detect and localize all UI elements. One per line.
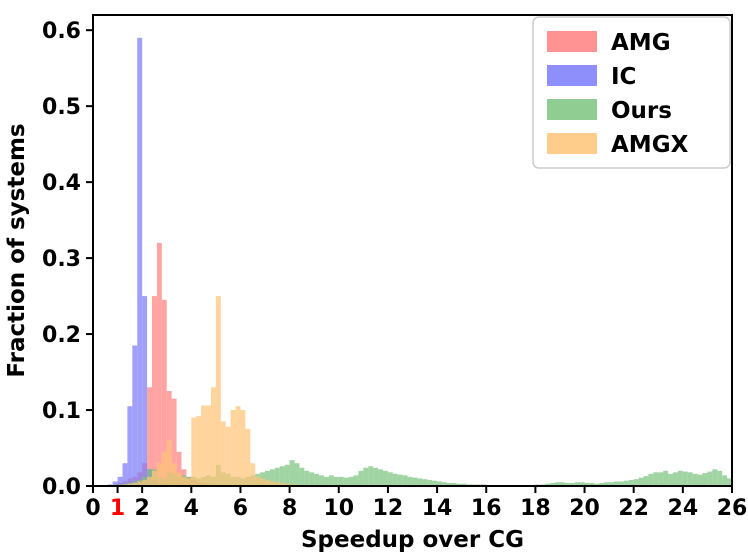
histogram-bar [290,460,295,486]
histogram-bar [255,477,260,486]
legend-box[interactable]: AMGICOursAMGX [533,17,730,168]
histogram-bar [422,479,427,486]
histogram-bar [349,477,354,486]
histogram-bar [240,410,245,486]
histogram-bar [334,477,339,486]
histogram-bar [668,474,673,486]
histogram-bar [388,472,393,486]
histogram-bar [383,471,388,486]
histogram-bar [639,478,644,486]
histogram-bar [378,469,383,486]
histogram-bar [653,472,658,486]
x-tick-label: 20 [569,496,600,521]
histogram-bar [191,418,196,486]
legend-swatch [547,65,597,86]
y-tick-label: 0.0 [42,475,81,500]
histogram-bar [221,421,226,486]
histogram-bar [413,478,418,486]
histogram-bar [186,478,191,486]
x-tick-label: 2 [134,496,149,521]
x-tick-label: 22 [618,496,649,521]
histogram-bar [373,468,378,486]
histogram-bar [196,416,201,486]
histogram-bar [122,463,127,486]
histogram-bar [295,463,300,486]
legend-label: AMG [611,30,671,56]
histogram-bar [260,478,265,486]
histogram-bar [304,471,309,486]
histogram-bar [226,427,231,486]
histogram-bar [216,296,221,486]
histogram-bar [403,475,408,486]
x-tick-label: 12 [373,496,404,521]
histogram-bar [324,477,329,486]
histogram-bar [408,477,413,486]
legend-swatch [547,99,597,120]
histogram-bar [299,468,304,486]
histogram-bar [137,38,142,486]
x-tick-label: 6 [233,496,248,521]
histogram-bar [206,405,211,486]
histogram-bar [177,472,182,486]
legend-label: IC [611,64,636,90]
x-tick-label: 1 [110,496,125,521]
y-axis-title: Fraction of systems [4,123,30,377]
y-tick-label: 0.5 [42,95,81,120]
histogram-bar [368,466,373,486]
histogram-bar [693,474,698,486]
histogram-bar [319,475,324,486]
x-tick-label: 18 [520,496,551,521]
x-axis-title: Speedup over CG [301,527,524,553]
histogram-bar [722,475,727,486]
histogram-bar [678,471,683,486]
histogram-bar [132,345,137,486]
histogram-bar [658,472,663,486]
histogram-bar [181,477,186,486]
histogram-bar [245,429,250,486]
legend-swatch [547,133,597,154]
histogram-bar [127,406,132,486]
histogram-bar [201,405,206,486]
x-tick-label: 4 [184,496,199,521]
histogram-bar [157,243,162,486]
histogram-bar [211,387,216,486]
histogram-bar [142,296,147,486]
x-tick-label: 8 [282,496,297,521]
histogram-bar [703,473,708,486]
histogram-bar [152,471,157,486]
histogram-bar [344,478,349,486]
histogram-bar [339,477,344,486]
histogram-bar [644,476,649,486]
histogram-bar [250,463,255,486]
legend-label: AMGX [611,132,689,158]
y-tick-label: 0.6 [42,19,81,44]
histogram-bar [698,475,703,486]
axis-titles-layer: Speedup over CGFraction of systems [4,123,524,553]
legend-swatch [547,31,597,52]
histogram-bar [152,296,157,486]
histogram-bar [417,478,422,486]
histogram-bar [167,440,172,486]
histogram-bar [707,472,712,486]
histogram-bar [673,472,678,486]
histogram-bar [363,468,368,486]
histogram-bar [314,474,319,486]
x-tick-label: 16 [471,496,502,521]
histogram-bar [393,474,398,486]
histogram-bar [683,472,688,486]
histogram-bar [285,465,290,486]
y-tick-label: 0.2 [42,323,81,348]
histogram-bar [398,475,403,486]
histogram-bar [648,474,653,486]
histogram-bar [737,481,742,486]
histogram-bar [172,463,177,486]
x-tick-label: 0 [85,496,100,521]
histogram-bar [147,477,152,486]
legend-label: Ours [611,98,672,124]
histogram-bar [157,463,162,486]
y-tick-label: 0.4 [42,171,81,196]
histogram-bar [634,479,639,486]
histogram-bar [742,481,747,486]
histogram-bar [162,452,167,486]
histogram-bar [354,475,359,486]
histogram-bar [688,472,693,486]
x-tick-label: 26 [717,496,748,521]
histogram-bar [309,472,314,486]
x-tick-label: 14 [422,496,453,521]
y-tick-label: 0.3 [42,247,81,272]
x-tick-label: 24 [668,496,699,521]
histogram-bar [663,471,668,486]
histogram-bar [717,471,722,486]
histogram-bar [358,471,363,486]
histogram-bar [329,475,334,486]
histogram-figure: 0124681012141618202224260.00.10.20.30.40… [0,0,748,557]
y-tick-label: 0.1 [42,399,81,424]
x-tick-label: 10 [323,496,354,521]
histogram-bar [236,406,241,486]
histogram-bar [712,469,717,486]
chart-canvas: 0124681012141618202224260.00.10.20.30.40… [0,0,748,557]
histogram-bar [231,410,236,486]
